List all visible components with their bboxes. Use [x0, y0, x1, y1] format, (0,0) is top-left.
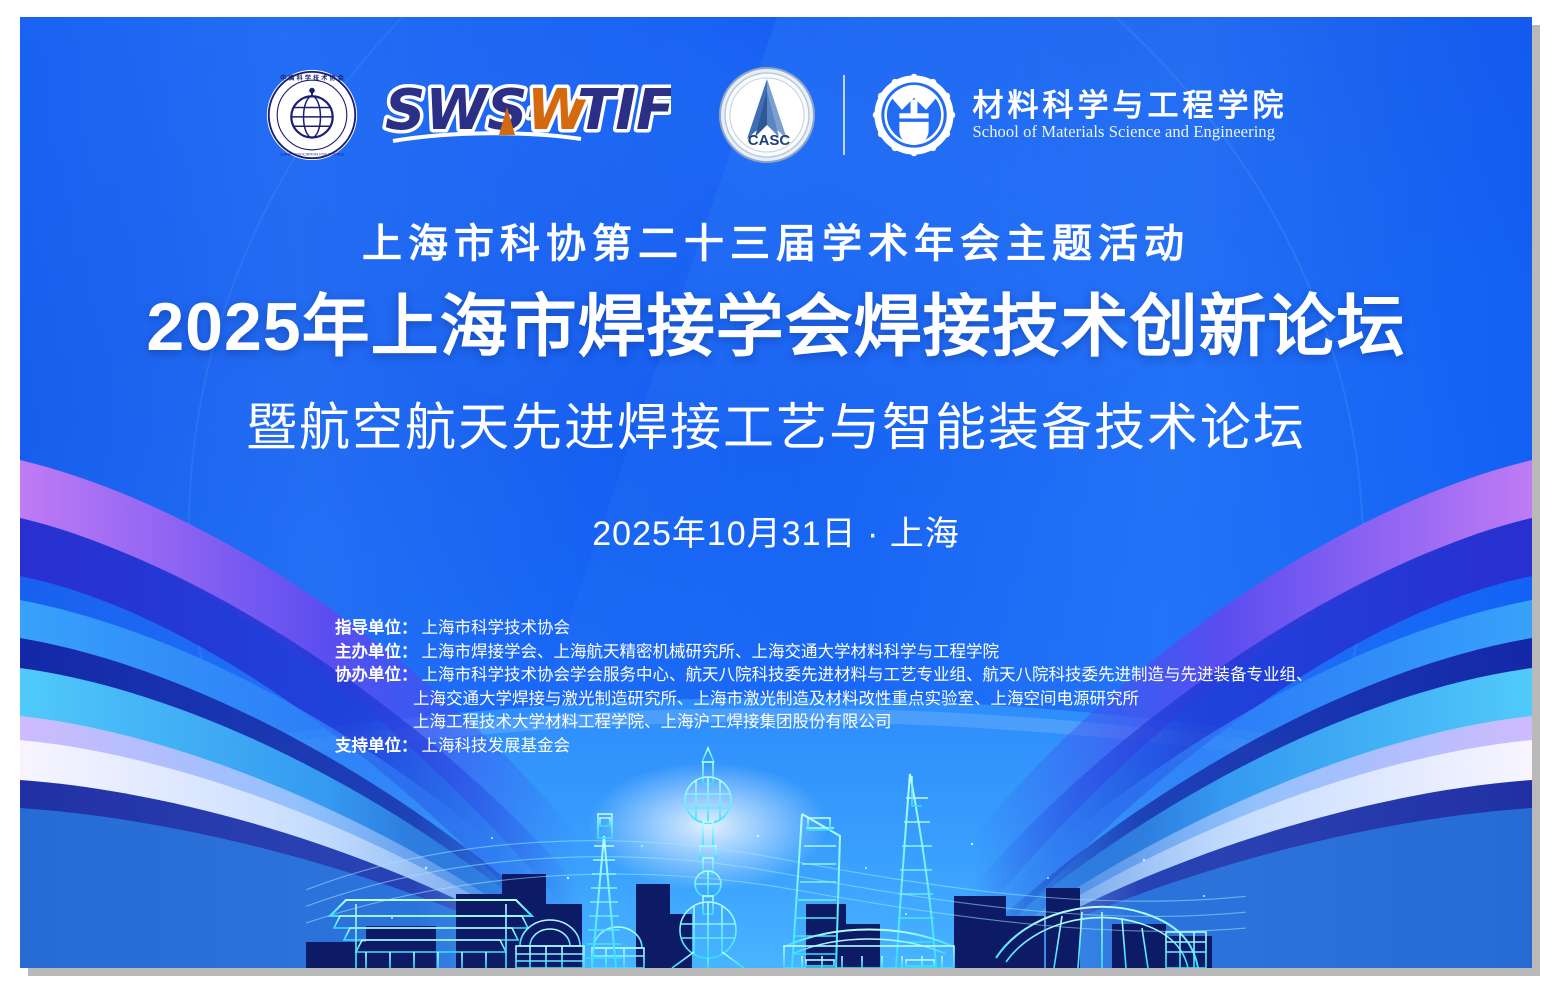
smse-gear-icon	[871, 72, 957, 158]
smse-name-en: School of Materials Science and Engineer…	[973, 124, 1288, 141]
organizer-label: 支持单位	[305, 735, 401, 759]
page-canvas: 中 国 科 学 技 术 协 会 CHINA ASSOCIATION FOR SC…	[0, 0, 1554, 993]
organizer-label: 主办单位	[305, 641, 401, 665]
svg-text:CASC: CASC	[747, 132, 790, 149]
organizer-continuation: 上海交通大学焊接与激光制造研究所、上海市激光制造及材料改性重点实验室、上海空间电…	[305, 688, 1365, 712]
logo-divider	[843, 75, 845, 155]
organizer-colon: ：	[401, 617, 422, 641]
smse-logo-group: 材料科学与工程学院 School of Materials Science an…	[871, 72, 1288, 158]
organizer-value: 上海科技发展基金会	[422, 735, 1366, 759]
event-datetime: 2025年10月31日 · 上海	[20, 514, 1532, 555]
organizer-label: 指导单位	[305, 617, 401, 641]
conference-banner: 中 国 科 学 技 术 协 会 CHINA ASSOCIATION FOR SC…	[20, 17, 1532, 968]
organizer-row: 指导单位 ： 上海市科学技术协会	[305, 617, 1365, 641]
organizer-colon: ：	[401, 641, 422, 665]
organizer-colon: ：	[401, 735, 422, 759]
organizer-label: 协办单位	[305, 664, 401, 688]
organizer-continuation: 上海工程技术大学材料工程学院、上海沪工焊接集团股份有限公司	[305, 711, 1365, 735]
organizer-value: 上海市科学技术协会	[422, 617, 1366, 641]
casc-emblem-icon: CASC	[717, 65, 817, 165]
banner-content: 中 国 科 学 技 术 协 会 CHINA ASSOCIATION FOR SC…	[20, 17, 1532, 968]
smse-text-block: 材料科学与工程学院 School of Materials Science an…	[973, 90, 1288, 141]
event-title: 2025年上海市焊接学会焊接技术创新论坛	[20, 289, 1532, 365]
svg-text:CHINA ASSOCIATION FOR SCIENCE: CHINA ASSOCIATION FOR SCIENCE	[279, 152, 345, 156]
organizer-value: 上海市科学技术协会学会服务中心、航天八院科技委先进材料与工艺专业组、航天八院科技…	[422, 664, 1366, 688]
svg-text:中 国 科 学 技 术 协 会: 中 国 科 学 技 术 协 会	[280, 74, 345, 82]
sws-wtif-wordmark: SWS- SWS- W W TIF TIF	[381, 71, 671, 160]
logo-strip: 中 国 科 学 技 术 协 会 CHINA ASSOCIATION FOR SC…	[20, 65, 1532, 165]
organizer-row: 协办单位 ： 上海市科学技术协会学会服务中心、航天八院科技委先进材料与工艺专业组…	[305, 664, 1365, 688]
organizer-colon: ：	[401, 664, 422, 688]
svg-text:TIF: TIF	[577, 78, 671, 143]
event-subtitle: 暨航空航天先进焊接工艺与智能装备技术论坛	[20, 399, 1532, 458]
cast-emblem-icon: 中 国 科 学 技 术 协 会 CHINA ASSOCIATION FOR SC…	[265, 68, 359, 162]
organizer-row: 支持单位 ： 上海科技发展基金会	[305, 735, 1365, 759]
organizer-row: 主办单位 ： 上海市焊接学会、上海航天精密机械研究所、上海交通大学材料科学与工程…	[305, 641, 1365, 665]
organizer-list: 指导单位 ： 上海市科学技术协会 主办单位 ： 上海市焊接学会、上海航天精密机械…	[305, 617, 1365, 758]
event-kicker: 上海市科协第二十三届学术年会主题活动	[20, 222, 1532, 266]
smse-name-cn: 材料科学与工程学院	[973, 90, 1288, 121]
organizer-value: 上海市焊接学会、上海航天精密机械研究所、上海交通大学材料科学与工程学院	[422, 641, 1366, 665]
